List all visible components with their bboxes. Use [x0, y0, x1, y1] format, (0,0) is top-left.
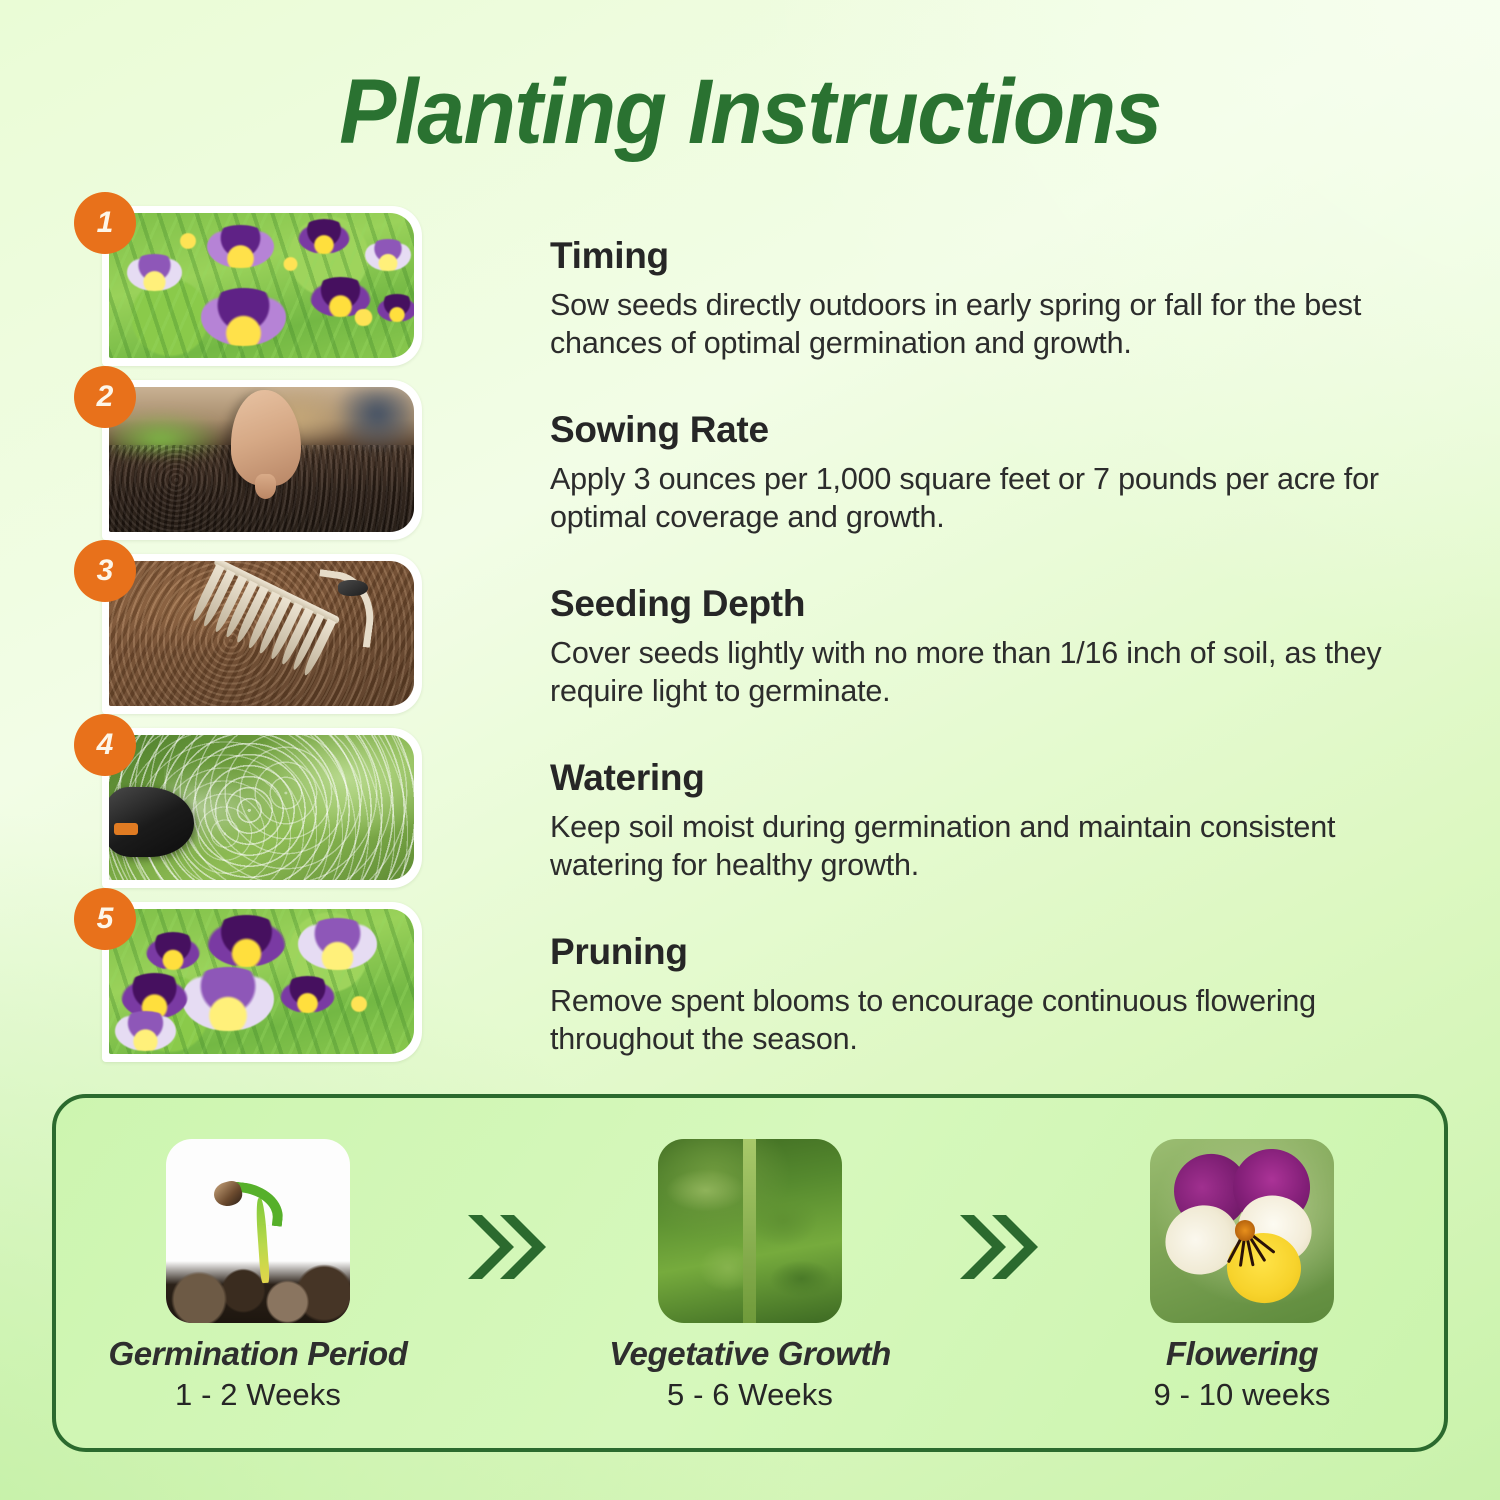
growth-timeline-panel: Germination Period 1 - 2 Weeks Vegetativ… — [52, 1094, 1448, 1452]
step-title: Timing — [550, 236, 1416, 277]
step-thumbnail-frame — [102, 554, 422, 714]
steps-list: 1 — [86, 206, 1416, 1076]
step-number-badge: 4 — [74, 714, 136, 776]
step-number-badge: 2 — [74, 366, 136, 428]
step-thumbnail-frame — [102, 902, 422, 1062]
stage-label: Vegetative Growth — [600, 1336, 900, 1372]
step-item: 4 Watering Keep soil moist during germin… — [86, 728, 1416, 902]
step-number-badge: 3 — [74, 540, 136, 602]
stage-label: Germination Period — [108, 1336, 408, 1372]
planting-instructions-infographic: Planting Instructions 1 — [0, 0, 1500, 1500]
step-thumbnail-wrap: 3 — [102, 554, 438, 716]
step-title: Seeding Depth — [550, 584, 1416, 625]
step-item: 1 — [86, 206, 1416, 380]
step-text: Timing Sow seeds directly outdoors in ea… — [550, 206, 1416, 363]
step-text: Watering Keep soil moist during germinat… — [550, 728, 1416, 885]
purple-yellow-pansy-bloom-photo — [1150, 1139, 1334, 1323]
step-thumbnail-wrap: 2 — [102, 380, 438, 542]
step-text: Pruning Remove spent blooms to encourage… — [550, 902, 1416, 1059]
viola-blooms-closeup-photo — [109, 909, 414, 1054]
step-text: Seeding Depth Cover seeds lightly with n… — [550, 554, 1416, 711]
stage-duration: 9 - 10 weeks — [1092, 1377, 1392, 1413]
step-description: Cover seeds lightly with no more than 1/… — [550, 634, 1416, 711]
leafy-green-plant-photo — [658, 1139, 842, 1323]
double-chevron-right-icon — [456, 1209, 552, 1285]
step-description: Apply 3 ounces per 1,000 square feet or … — [550, 460, 1416, 537]
timeline-stage: Germination Period 1 - 2 Weeks — [108, 1133, 408, 1412]
step-title: Watering — [550, 758, 1416, 799]
step-thumbnail-wrap: 5 — [102, 902, 438, 1064]
step-text: Sowing Rate Apply 3 ounces per 1,000 squ… — [550, 380, 1416, 537]
timeline-stage: Vegetative Growth 5 - 6 Weeks — [600, 1133, 900, 1412]
step-title: Sowing Rate — [550, 410, 1416, 451]
page-title: Planting Instructions — [53, 66, 1448, 160]
stage-label: Flowering — [1092, 1336, 1392, 1372]
step-thumbnail-frame — [102, 206, 422, 366]
step-thumbnail-frame — [102, 380, 422, 540]
step-item: 3 — [86, 554, 1416, 728]
step-thumbnail-wrap: 4 — [102, 728, 438, 890]
step-item: 2 Sowing Rate Apply 3 ounces per 1,000 s… — [86, 380, 1416, 554]
step-description: Sow seeds directly outdoors in early spr… — [550, 286, 1416, 363]
step-description: Remove spent blooms to encourage continu… — [550, 982, 1416, 1059]
step-title: Pruning — [550, 932, 1416, 973]
stage-duration: 1 - 2 Weeks — [108, 1377, 408, 1413]
rake-on-soil-photo — [109, 561, 414, 706]
step-number-badge: 1 — [74, 192, 136, 254]
step-number-badge: 5 — [74, 888, 136, 950]
double-chevron-right-icon — [948, 1209, 1044, 1285]
hose-nozzle-spraying-water-photo — [109, 735, 414, 880]
step-item: 5 Pruning Rem — [86, 902, 1416, 1076]
step-description: Keep soil moist during germination and m… — [550, 808, 1416, 885]
timeline-stage: Flowering 9 - 10 weeks — [1092, 1133, 1392, 1412]
seed-sprout-photo — [166, 1139, 350, 1323]
step-thumbnail-frame — [102, 728, 422, 888]
hand-sowing-seeds-in-soil-photo — [109, 387, 414, 532]
viola-flower-bed-photo — [109, 213, 414, 358]
step-thumbnail-wrap: 1 — [102, 206, 438, 368]
stage-duration: 5 - 6 Weeks — [600, 1377, 900, 1413]
